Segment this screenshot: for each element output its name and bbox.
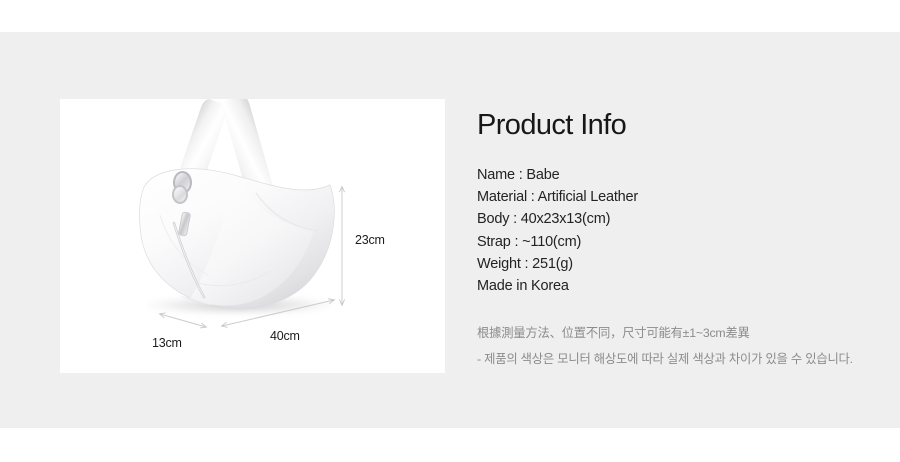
product-photo bbox=[60, 99, 445, 373]
disclaimer-color-kr: - 제품의 색상은 모니터 해상도에 따라 실제 색상과 차이가 있을 수 있습… bbox=[477, 346, 887, 372]
disclaimer-measurement-cn: 根據測量方法、位置不同，尺寸可能有±1~3cm差異 bbox=[477, 320, 887, 346]
spec-row-name: Name : Babe bbox=[477, 164, 877, 186]
spec-row-origin: Made in Korea bbox=[477, 275, 877, 297]
spec-row-material: Material : Artificial Leather bbox=[477, 186, 877, 208]
disclaimer-section: 根據測量方法、位置不同，尺寸可能有±1~3cm差異 - 제품의 색상은 모니터 … bbox=[477, 320, 887, 372]
dimension-label-depth: 13cm bbox=[152, 336, 182, 350]
product-image-panel bbox=[60, 99, 445, 373]
dimension-label-height: 23cm bbox=[355, 233, 385, 247]
spec-row-strap: Strap : ~110(cm) bbox=[477, 231, 877, 253]
bag-body bbox=[138, 163, 342, 311]
dimension-label-width: 40cm bbox=[270, 329, 300, 343]
strap-ring-lower-icon bbox=[172, 185, 188, 204]
spec-row-body: Body : 40x23x13(cm) bbox=[477, 208, 877, 230]
page-title: Product Info bbox=[477, 110, 877, 142]
spec-row-weight: Weight : 251(g) bbox=[477, 253, 877, 275]
product-detail-page: 23cm 40cm 13cm Product Info Name : Babe … bbox=[0, 0, 900, 462]
product-info-section: Product Info Name : Babe Material : Arti… bbox=[477, 110, 877, 297]
spec-list: Name : Babe Material : Artificial Leathe… bbox=[477, 164, 877, 297]
